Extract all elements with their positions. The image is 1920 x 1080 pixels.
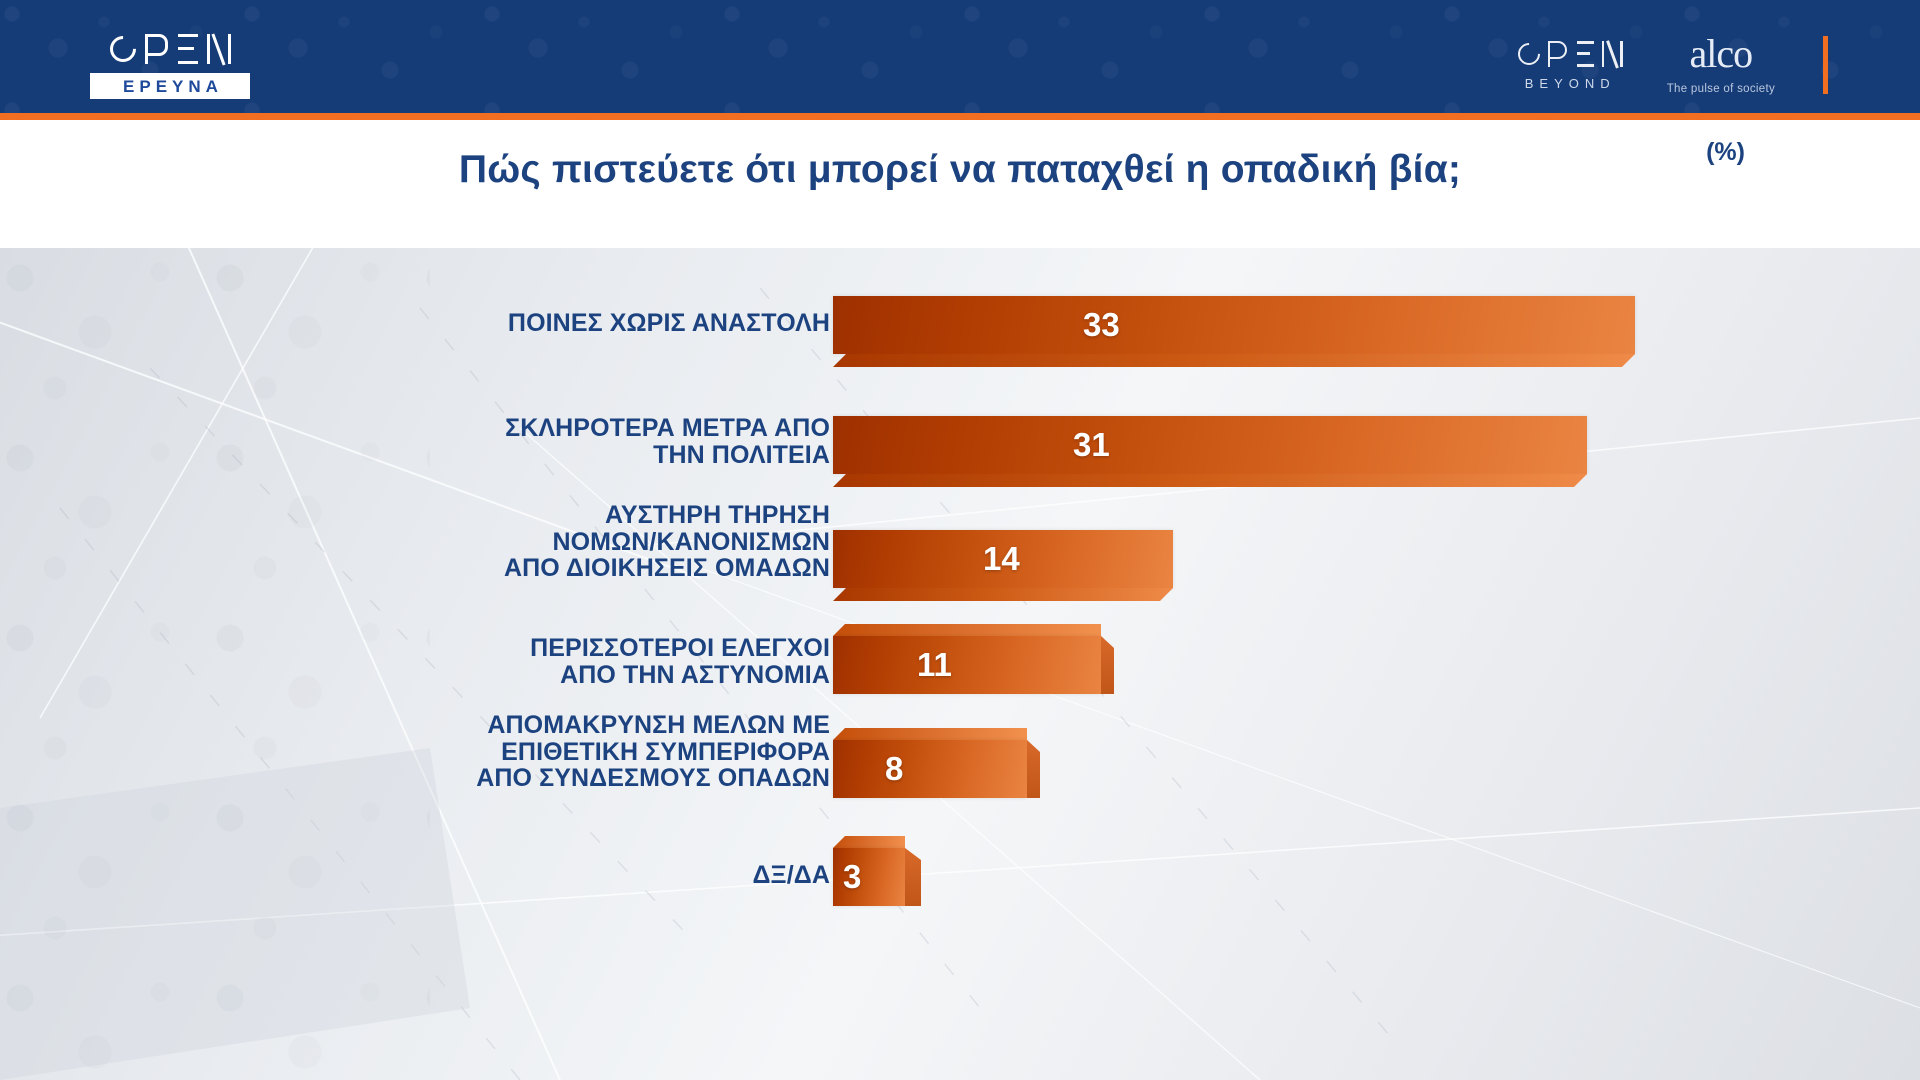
bar-front-face: [833, 416, 1587, 474]
letter-p-icon: [1548, 41, 1567, 67]
table-row: ΠΟΙΝΕΣ ΧΩΡΙΣ ΑΝΑΣΤΟΛΗ 33: [0, 296, 1920, 354]
letter-n-icon: [1602, 41, 1623, 67]
bar-bevel-top: [833, 624, 1101, 636]
letter-n-icon: [207, 34, 231, 64]
bar-container: 8: [833, 740, 1027, 798]
alco-logo: alco The pulse of society: [1667, 34, 1775, 95]
percent-unit-label: (%): [1706, 138, 1745, 167]
bar-front-face: [833, 296, 1635, 354]
bar-value: 31: [1073, 426, 1110, 464]
bar-side-face: [1027, 740, 1040, 798]
title-band: Πώς πιστεύετε ότι μπορεί να παταχθεί η ο…: [0, 120, 1920, 248]
letter-p-icon: [145, 34, 167, 64]
partner-logos: BEYOND alco The pulse of society: [1518, 34, 1828, 95]
bar-label: ΠΕΡΙΣΣΟΤΕΡΟΙ ΕΛΕΓΧΟΙ ΑΠΟ ΤΗΝ ΑΣΤΥΝΟΜΙΑ: [90, 635, 830, 688]
table-row: ΔΞ/ΔΑ 3: [0, 848, 1920, 906]
bar-3d: 14: [833, 530, 1173, 588]
bar-label: ΑΥΣΤΗΡΗ ΤΗΡΗΣΗ ΝΟΜΩΝ/ΚΑΝΟΝΙΣΜΩΝ ΑΠΟ ΔΙΟΙ…: [90, 502, 830, 582]
letter-e-icon: [176, 34, 198, 64]
bar-bevel-bottom: [833, 354, 1635, 367]
bar-value: 33: [1083, 306, 1120, 344]
bar-container: 33: [833, 296, 1635, 354]
bar-value: 3: [843, 858, 861, 896]
letter-o-icon: [1513, 38, 1544, 69]
bar-bevel-top: [833, 728, 1027, 740]
page-header: ΕΡΕΥΝΑ BEYOND alco The pulse of society: [0, 0, 1920, 113]
table-row: ΠΕΡΙΣΣΟΤΕΡΟΙ ΕΛΕΓΧΟΙ ΑΠΟ ΤΗΝ ΑΣΤΥΝΟΜΙΑ 1…: [0, 636, 1920, 694]
bar-front-face: [833, 740, 1027, 798]
poll-chart-page: ΕΡΕΥΝΑ BEYOND alco The pulse of society …: [0, 0, 1920, 1080]
alco-tagline: The pulse of society: [1667, 83, 1775, 95]
header-accent-rule: [0, 113, 1920, 120]
bar-value: 14: [983, 540, 1020, 578]
bar-value: 11: [917, 646, 952, 684]
bar-rows: ΠΟΙΝΕΣ ΧΩΡΙΣ ΑΝΑΣΤΟΛΗ 33 ΣΚΛΗΡΟΤΕΡΑ ΜΕΤΡ…: [0, 248, 1920, 1080]
bar-3d: 31: [833, 416, 1587, 474]
table-row: ΣΚΛΗΡΟΤΕΡΑ ΜΕΤΡΑ ΑΠΟ ΤΗΝ ΠΟΛΙΤΕΙΑ 31: [0, 416, 1920, 474]
bar-side-face: [905, 848, 921, 906]
bar-value: 8: [885, 750, 903, 788]
bar-bevel-bottom: [833, 588, 1173, 601]
bar-label: ΣΚΛΗΡΟΤΕΡΑ ΜΕΤΡΑ ΑΠΟ ΤΗΝ ΠΟΛΙΤΕΙΑ: [90, 415, 830, 468]
bar-container: 11: [833, 636, 1101, 694]
open-erevna-logo: ΕΡΕΥΝΑ: [90, 32, 250, 99]
bar-3d: 11: [833, 636, 1101, 694]
bar-container: 14: [833, 530, 1173, 588]
beyond-subtitle: BEYOND: [1518, 77, 1623, 90]
open-wordmark-icon: [90, 32, 250, 66]
bar-container: 31: [833, 416, 1587, 474]
bar-3d: 3: [833, 848, 905, 906]
bar-bevel-top: [833, 836, 905, 848]
bar-side-face: [1101, 636, 1114, 694]
chart-area: ΠΟΙΝΕΣ ΧΩΡΙΣ ΑΝΑΣΤΟΛΗ 33 ΣΚΛΗΡΟΤΕΡΑ ΜΕΤΡ…: [0, 248, 1920, 1080]
table-row: ΑΠΟΜΑΚΡΥΝΣΗ ΜΕΛΩΝ ΜΕ ΕΠΙΘΕΤΙΚΗ ΣΥΜΠΕΡΙΦΟ…: [0, 740, 1920, 798]
bar-container: 3: [833, 848, 905, 906]
letter-e-icon: [1575, 41, 1594, 67]
open-beyond-logo: BEYOND: [1518, 39, 1623, 90]
orange-accent-bar: [1823, 36, 1828, 94]
bar-front-face: [833, 636, 1101, 694]
erevna-badge: ΕΡΕΥΝΑ: [90, 73, 250, 99]
bar-label: ΑΠΟΜΑΚΡΥΝΣΗ ΜΕΛΩΝ ΜΕ ΕΠΙΘΕΤΙΚΗ ΣΥΜΠΕΡΙΦΟ…: [90, 712, 830, 792]
bar-3d: 33: [833, 296, 1635, 354]
letter-o-icon: [104, 31, 141, 68]
bar-label: ΔΞ/ΔΑ: [90, 862, 830, 889]
alco-wordmark: alco: [1667, 34, 1775, 74]
bar-3d: 8: [833, 740, 1027, 798]
open-beyond-wordmark-icon: [1518, 39, 1623, 69]
table-row: ΑΥΣΤΗΡΗ ΤΗΡΗΣΗ ΝΟΜΩΝ/ΚΑΝΟΝΙΣΜΩΝ ΑΠΟ ΔΙΟΙ…: [0, 530, 1920, 588]
page-title: Πώς πιστεύετε ότι μπορεί να παταχθεί η ο…: [0, 148, 1920, 192]
bar-label: ΠΟΙΝΕΣ ΧΩΡΙΣ ΑΝΑΣΤΟΛΗ: [90, 310, 830, 337]
bar-bevel-bottom: [833, 474, 1587, 487]
